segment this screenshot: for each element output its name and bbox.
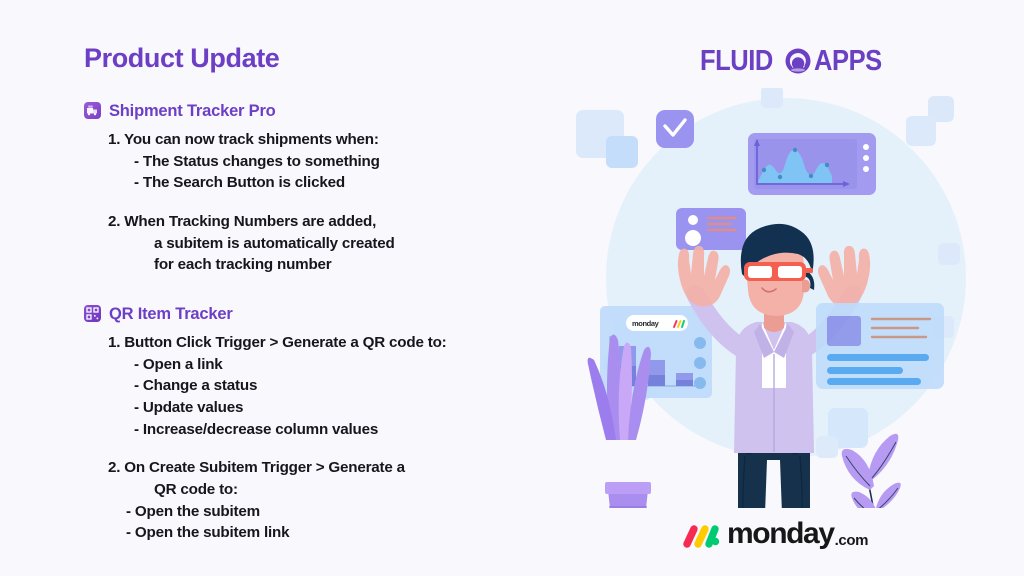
spacer — [84, 282, 554, 305]
contact-card-panel — [676, 208, 746, 250]
list-item: - Update values — [84, 398, 554, 419]
list-item: - Open a link — [84, 355, 554, 376]
text-card-panel — [816, 303, 944, 389]
section-header: QR Item Tracker — [84, 305, 554, 323]
list-item: 1. You can now track shipments when: — [84, 130, 554, 151]
list-item: - Increase/decrease column values — [84, 420, 554, 441]
qr-item-tracker-app-icon — [84, 305, 101, 322]
list-item: - Open the subitem — [84, 502, 554, 523]
fluid-logo-word-right: APPS — [814, 47, 882, 76]
section-title: Shipment Tracker Pro — [109, 102, 276, 120]
monday-logo-tld: .com — [835, 533, 868, 549]
line-chart-panel — [748, 133, 876, 195]
list-item: - The Status changes to something — [84, 152, 554, 173]
fluid-logo-word-left: FLUID — [700, 47, 773, 76]
spacer — [84, 195, 554, 212]
list-item: 2. On Create Subitem Trigger > Generate … — [84, 458, 554, 479]
feature-list: 1. Button Click Trigger > Generate a QR … — [84, 333, 554, 544]
monday-com-logo: monday .com — [681, 515, 868, 549]
list-item: 1. Button Click Trigger > Generate a QR … — [84, 333, 554, 354]
page-title: Product Update — [84, 44, 554, 74]
section-title: QR Item Tracker — [109, 305, 233, 323]
feature-list: 1. You can now track shipments when: - T… — [84, 130, 554, 276]
monday-bars-icon — [681, 521, 723, 549]
spacer — [84, 441, 554, 458]
svg-text:monday: monday — [632, 319, 660, 328]
section-qr-item-tracker: QR Item Tracker 1. Button Click Trigger … — [84, 305, 554, 544]
content-column: Product Update Shipment Tracker Pro 1. Y… — [84, 44, 554, 550]
pants — [738, 448, 810, 508]
list-item: - Open the subitem link — [84, 523, 554, 544]
section-shipment-tracker-pro: Shipment Tracker Pro 1. You can now trac… — [84, 102, 554, 276]
shipment-tracker-app-icon — [84, 102, 101, 119]
list-item: - The Search Button is clicked — [84, 173, 554, 194]
vr-glasses — [744, 262, 813, 281]
list-item: 2. When Tracking Numbers are added, — [84, 212, 554, 233]
vr-person-with-dashboards-illustration: monday — [548, 88, 994, 508]
list-item: a subitem is automatically created — [84, 234, 554, 255]
list-item: - Change a status — [84, 376, 554, 397]
fluid-droplet-icon — [783, 46, 813, 76]
slide-root: Product Update Shipment Tracker Pro 1. Y… — [0, 0, 1024, 576]
potted-plant — [588, 334, 651, 508]
section-header: Shipment Tracker Pro — [84, 102, 554, 120]
monday-logo-word: monday — [727, 519, 834, 549]
panel-dots — [694, 337, 706, 389]
list-item: for each tracking number — [84, 255, 554, 276]
panel-menu-dots — [863, 144, 869, 172]
list-item: QR code to: — [84, 480, 554, 501]
checkmark-badge — [656, 110, 694, 148]
fluid-apps-logo: FLUID APPS — [700, 45, 891, 77]
